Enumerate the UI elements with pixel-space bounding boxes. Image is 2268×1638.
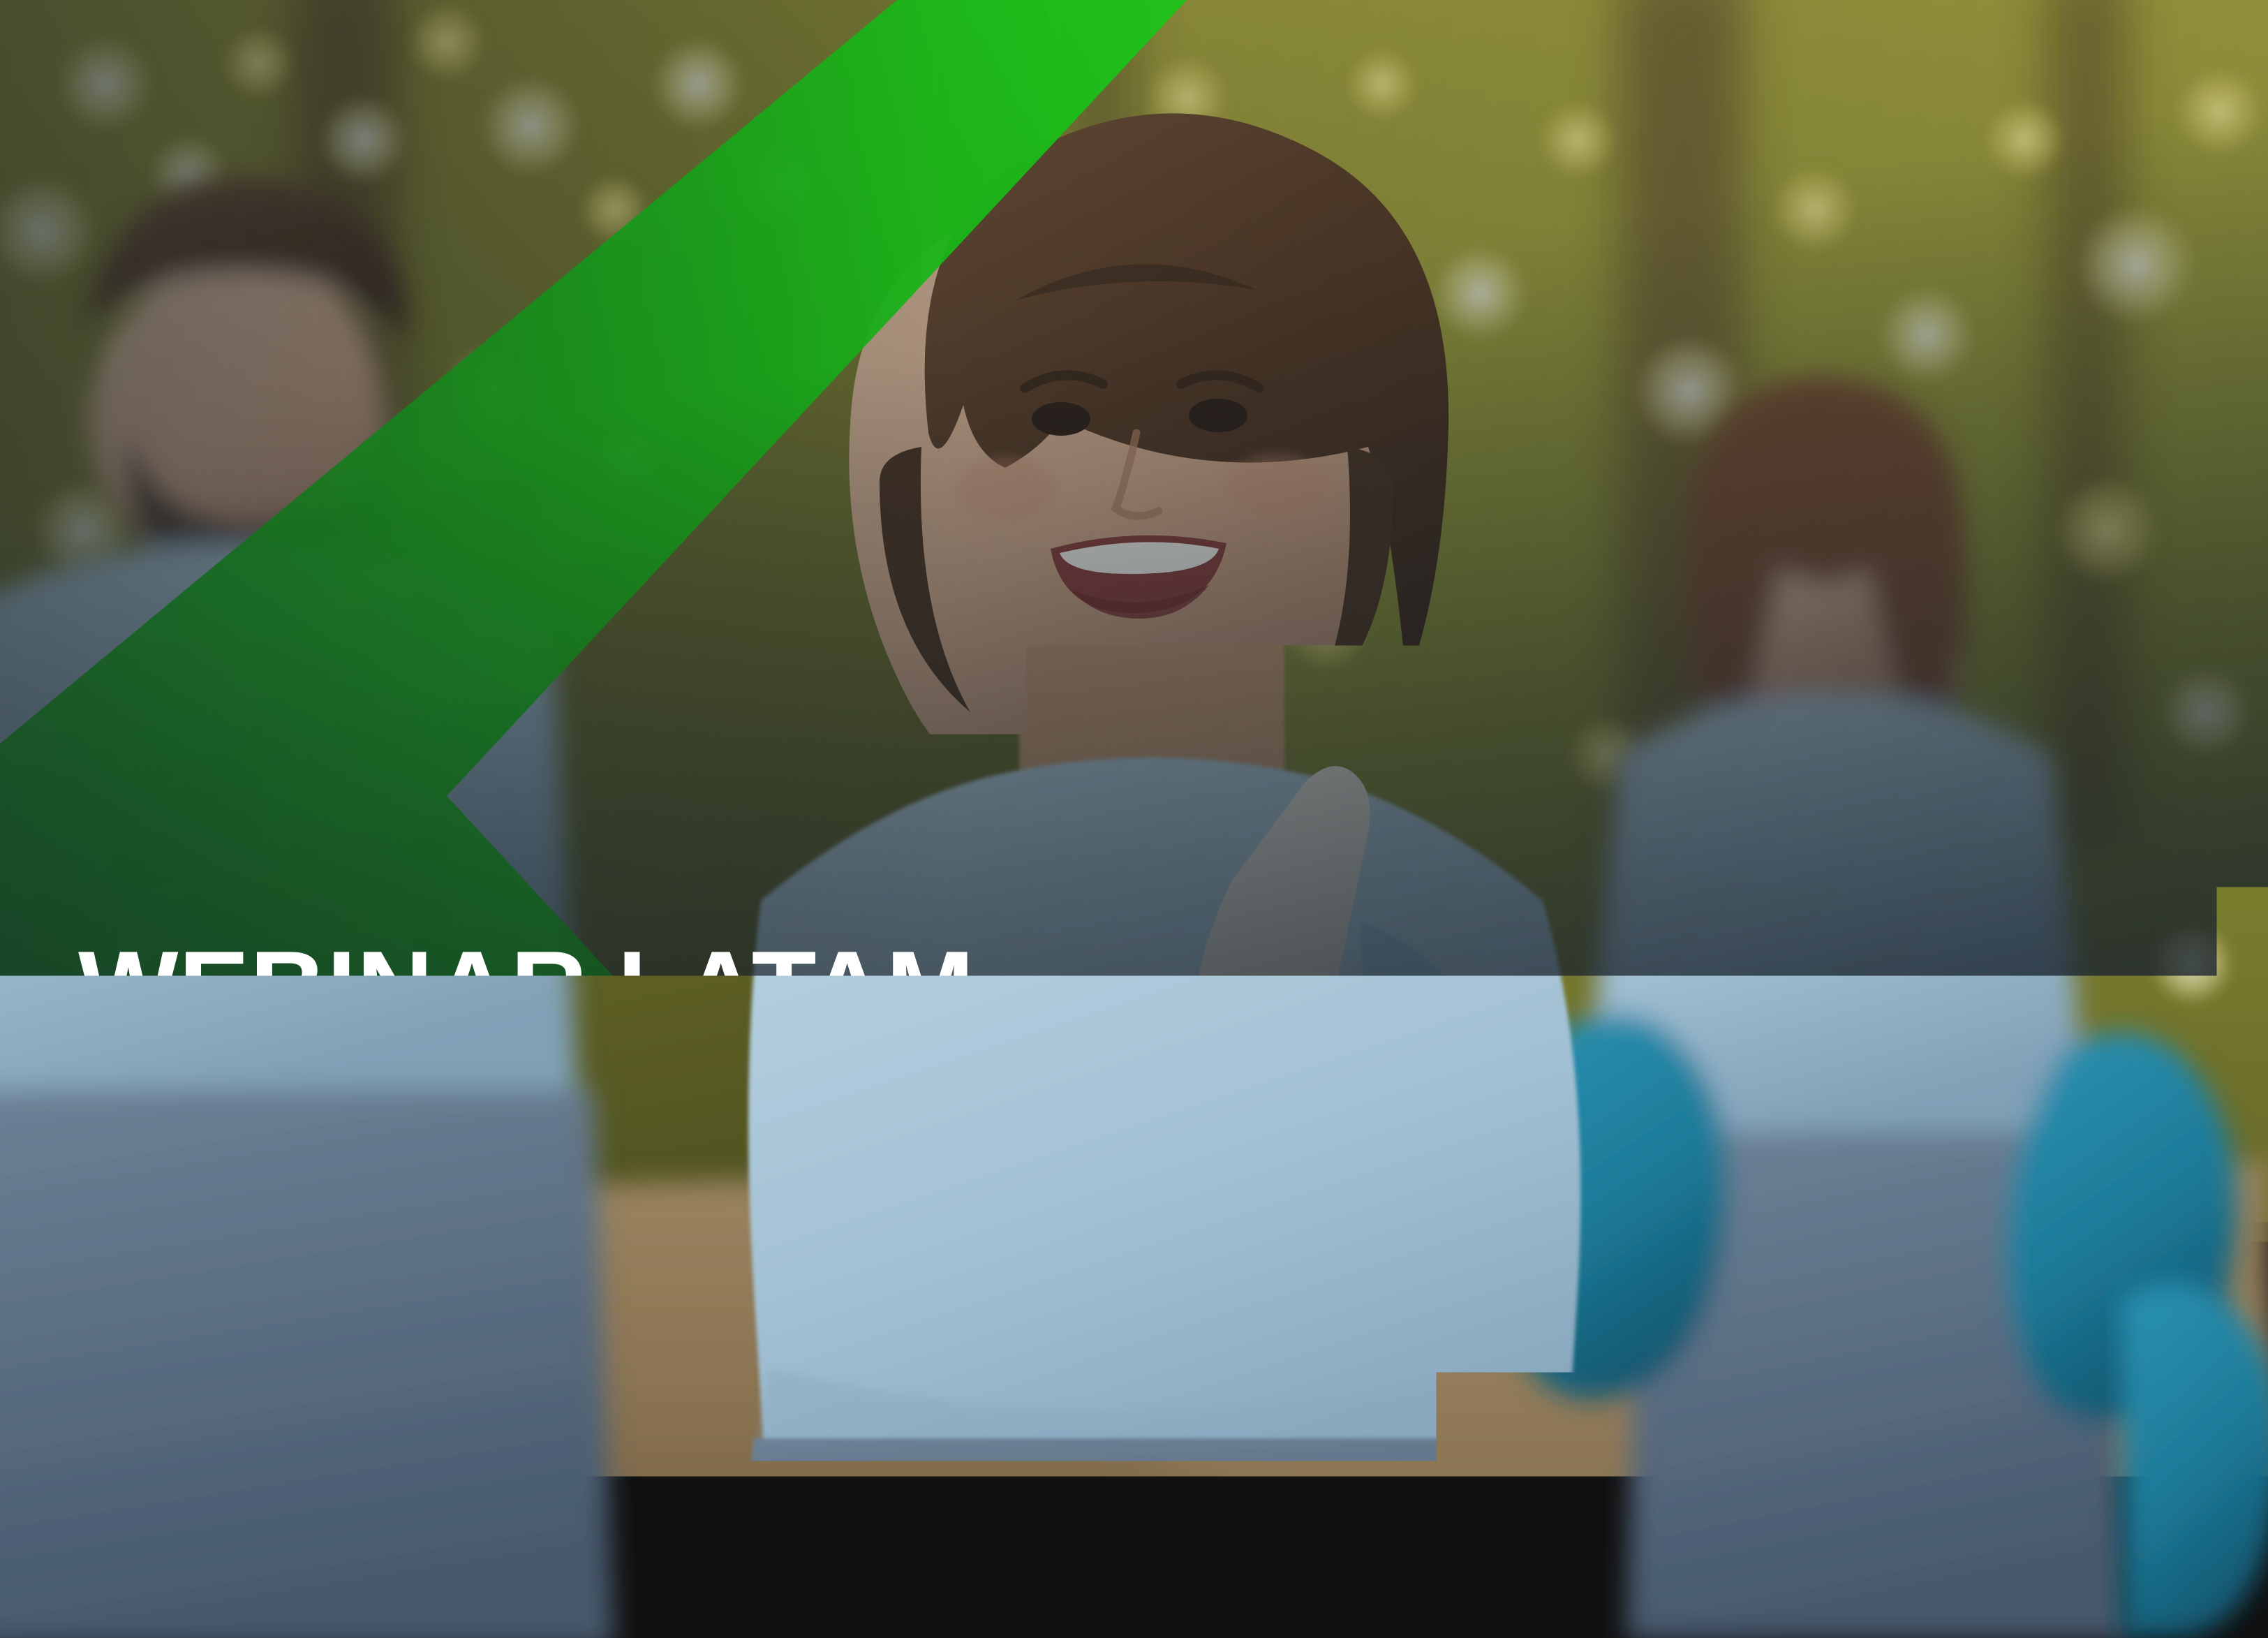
banner-text-block: WEBINAR LATAM Sustentar para ganhar | De… <box>78 936 1767 1379</box>
text-contrast-overlay <box>0 0 2268 1638</box>
page-title: WEBINAR LATAM <box>78 936 1767 1042</box>
banner-subtitle: Sustentar para ganhar | Desvendando prát… <box>78 1042 1747 1379</box>
webinar-banner: WEBINAR LATAM Sustentar para ganhar | De… <box>0 0 2268 1638</box>
